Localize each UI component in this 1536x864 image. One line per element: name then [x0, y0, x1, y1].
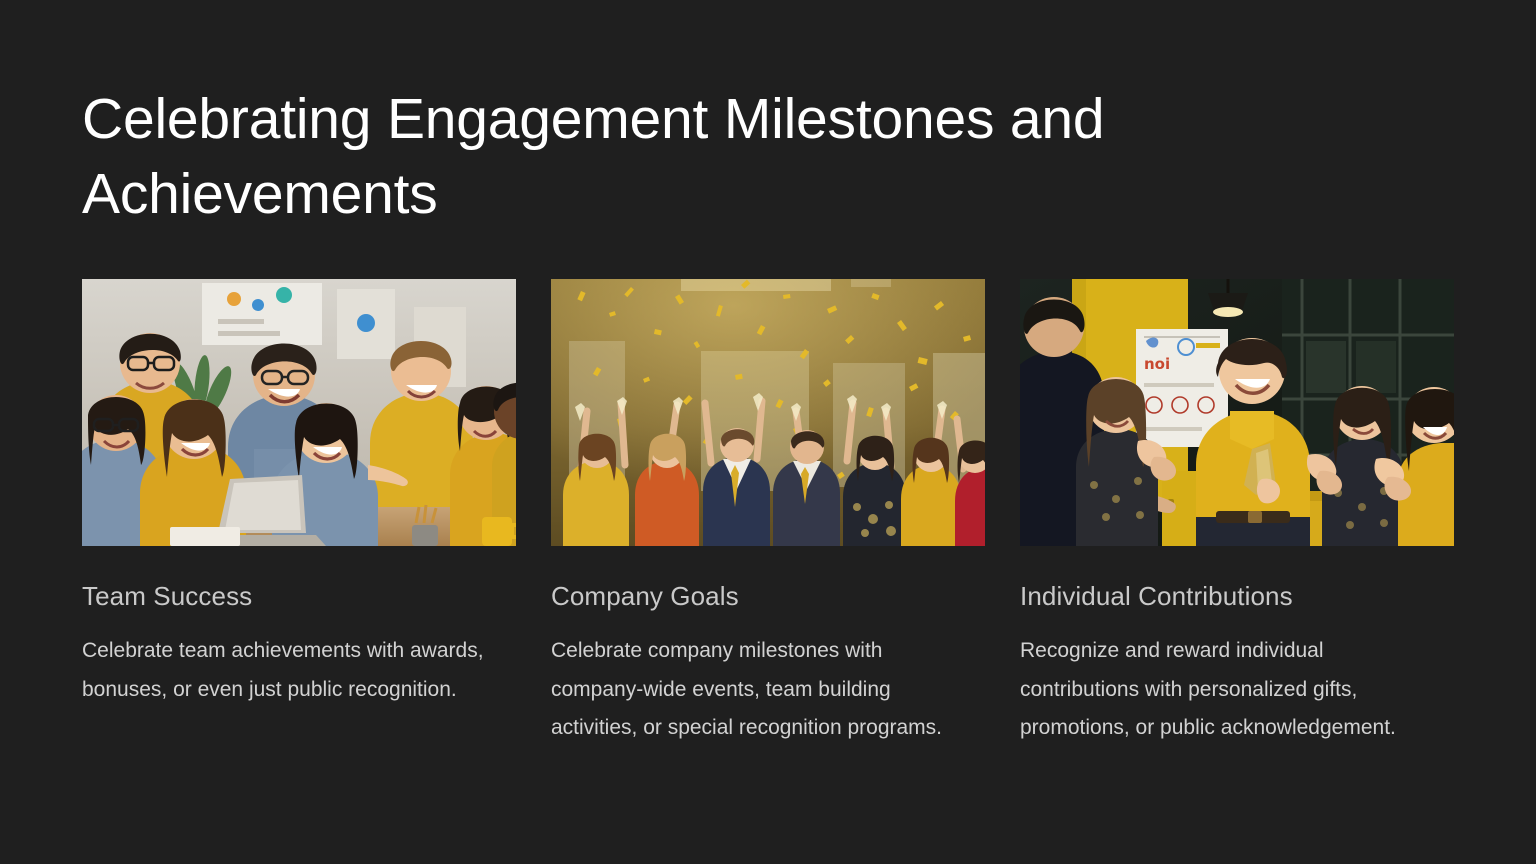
- card-description: Celebrate team achievements with awards,…: [82, 632, 502, 709]
- page-title: Celebrating Engagement Milestones and Ac…: [82, 82, 1242, 232]
- card-heading: Team Success: [82, 580, 516, 612]
- card-company-goals[interactable]: Company Goals Celebrate company mileston…: [551, 279, 985, 748]
- card-individual-contributions[interactable]: noi: [1020, 279, 1454, 748]
- card-description: Recognize and reward individual contribu…: [1020, 632, 1440, 748]
- card-team-success[interactable]: Team Success Celebrate team achievements…: [82, 279, 516, 748]
- confetti-champagne-celebration-photo: [551, 279, 985, 546]
- card-grid: Team Success Celebrate team achievements…: [82, 279, 1454, 748]
- award-handshake-applause-photo: noi: [1020, 279, 1454, 546]
- card-heading: Individual Contributions: [1020, 580, 1454, 612]
- team-laptop-celebration-photo: [82, 279, 516, 546]
- svg-text:noi: noi: [1144, 355, 1170, 373]
- card-description: Celebrate company milestones with compan…: [551, 632, 971, 748]
- presentation-slide: Celebrating Engagement Milestones and Ac…: [0, 0, 1536, 864]
- card-heading: Company Goals: [551, 580, 985, 612]
